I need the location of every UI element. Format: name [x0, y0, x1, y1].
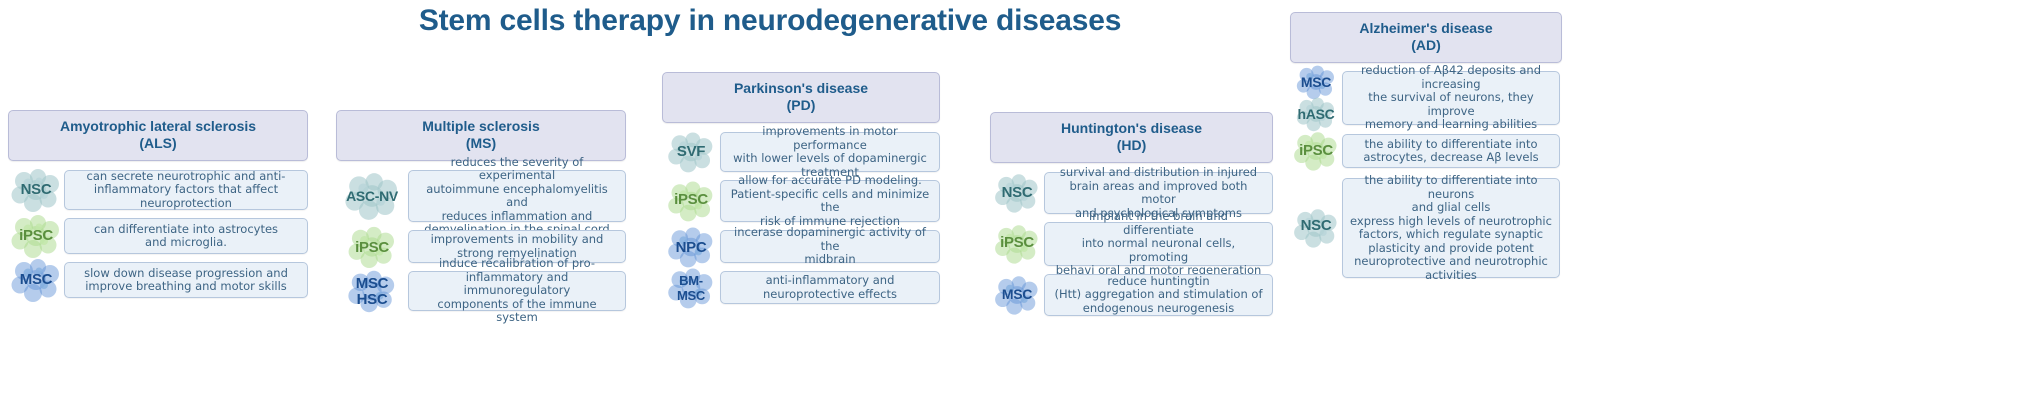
- column-ad: Alzheimer's disease (AD): [1290, 12, 2020, 286]
- stem-cell-cluster-icon: [8, 257, 64, 303]
- stem-cell-cluster-icon: [341, 171, 403, 221]
- info-box-hd-0: survival and distribution in injured bra…: [1044, 172, 1273, 214]
- row-ms-0: ASC-NV reduces the severity of experimen…: [336, 170, 626, 222]
- disease-header-als: Amyotrophic lateral sclerosis (ALS): [8, 110, 308, 161]
- column-hd: Huntington's disease (HD) NSC: [990, 112, 1273, 324]
- info-box-pd-0: improvements in motor performance with l…: [720, 132, 940, 172]
- disease-abbr-ad: (AD): [1411, 37, 1441, 53]
- info-box-pd-3: anti-inflammatory and neuroprotective ef…: [720, 271, 940, 304]
- cell-icon-nsc: NSC: [990, 170, 1044, 216]
- disease-name-ad: Alzheimer's disease: [1359, 20, 1492, 36]
- row-pd-2: NPC incerase dopaminergic activity of th…: [662, 230, 940, 263]
- rows-als: NSC can secrete neurotrophic and anti- i…: [8, 170, 308, 298]
- disease-abbr-pd: (PD): [787, 97, 816, 113]
- cell-icon-group-msc-hasc: MSC hASC: [1290, 66, 1342, 130]
- stem-cell-cluster-icon: [1291, 130, 1341, 172]
- disease-name-hd: Huntington's disease: [1061, 120, 1202, 136]
- rows-ms: ASC-NV reduces the severity of experimen…: [336, 170, 626, 311]
- info-box-pd-1: allow for accurate PD modeling. Patient-…: [720, 180, 940, 222]
- disease-abbr-ms: (MS): [466, 135, 496, 151]
- cell-icon-ipsc: iPSC: [1290, 129, 1342, 173]
- disease-header-pd: Parkinson's disease (PD): [662, 72, 940, 123]
- info-box-hd-1: implant in the brain and differentiate i…: [1044, 222, 1273, 266]
- row-als-0: NSC can secrete neurotrophic and anti- i…: [8, 170, 308, 210]
- stem-cell-cluster-icon: [665, 266, 717, 310]
- disease-header-hd: Huntington's disease (HD): [990, 112, 1273, 163]
- row-pd-0: SVF improvements in motor performance wi…: [662, 132, 940, 172]
- cell-icon-svf: SVF: [662, 129, 720, 175]
- stem-cell-cluster-icon: [1292, 96, 1340, 132]
- disease-abbr-hd: (HD): [1117, 137, 1147, 153]
- info-box-ad-1: the ability to differentiate into astroc…: [1342, 134, 1560, 168]
- rows-hd: NSC survival and distribution in injured…: [990, 172, 1273, 316]
- cell-icon-hasc: hASC: [1290, 98, 1342, 130]
- disease-name-pd: Parkinson's disease: [734, 80, 868, 96]
- info-box-pd-2: incerase dopaminergic activity of the mi…: [720, 230, 940, 263]
- cell-icon-msc: MSC: [1291, 66, 1341, 98]
- info-box-als-2: slow down disease progression and improv…: [64, 262, 308, 298]
- disease-header-ms: Multiple sclerosis (MS): [336, 110, 626, 161]
- cell-icon-bm-msc: BM- MSC: [662, 265, 720, 311]
- cell-icon-msc: MSC: [990, 272, 1044, 318]
- cell-icon-msc: MSC: [8, 257, 64, 303]
- info-box-ms-2: induce recalibration of pro- inflammator…: [408, 271, 626, 311]
- stem-cell-cluster-icon: [992, 171, 1042, 215]
- row-hd-2: MSC reduce huntingtin (Htt) aggregation …: [990, 274, 1273, 316]
- cell-icon-ipsc: iPSC: [8, 213, 64, 259]
- row-als-1: iPSC can differentiate into astrocytes a…: [8, 218, 308, 254]
- row-pd-1: iPSC allow for accurate PD modeling. Pat…: [662, 180, 940, 222]
- cell-icon-nsc: NSC: [1290, 203, 1342, 253]
- row-ad-1: iPSC the ability to differentiate into a…: [1290, 134, 1560, 168]
- stem-cell-cluster-icon: [1292, 64, 1340, 100]
- row-hd-0: NSC survival and distribution in injured…: [990, 172, 1273, 214]
- stem-cell-cluster-icon: [345, 225, 399, 269]
- info-box-ms-0: reduces the severity of experimental aut…: [408, 170, 626, 222]
- cell-icon-asc-nv: ASC-NV: [336, 170, 408, 222]
- stem-cell-cluster-icon: [8, 213, 64, 259]
- stem-cell-cluster-icon: [345, 268, 399, 314]
- cell-icon-nsc: NSC: [8, 167, 64, 213]
- disease-header-ad: Alzheimer's disease (AD): [1290, 12, 1562, 63]
- rows-pd: SVF improvements in motor performance wi…: [662, 132, 940, 304]
- column-ms: Multiple sclerosis (MS) ASC-NV: [336, 110, 626, 319]
- rows-ad: MSC hASC: [1290, 72, 1560, 278]
- cell-icon-ipsc: iPSC: [336, 225, 408, 269]
- disease-abbr-als: (ALS): [139, 135, 176, 151]
- info-box-als-0: can secrete neurotrophic and anti- infla…: [64, 170, 308, 210]
- row-als-2: MSC slow down disease progression and im…: [8, 262, 308, 298]
- column-pd: Parkinson's disease (PD) SVF i: [662, 72, 940, 312]
- stem-cell-cluster-icon: [665, 225, 717, 269]
- disease-name-ms: Multiple sclerosis: [422, 118, 539, 134]
- stem-cell-cluster-icon: [992, 222, 1042, 266]
- stem-cell-cluster-icon: [1291, 206, 1341, 250]
- column-als: Amyotrophic lateral sclerosis (ALS): [8, 110, 308, 306]
- row-ad-2: NSC the ability to differentiate into ne…: [1290, 178, 1560, 278]
- stem-cell-cluster-icon: [8, 167, 64, 213]
- row-ms-2: MSC HSC induce recalibration of pro- inf…: [336, 271, 626, 311]
- row-pd-3: BM- MSC anti-inflammatory and neuroprote…: [662, 271, 940, 304]
- stem-cell-cluster-icon: [992, 273, 1042, 317]
- row-ad-0: MSC hASC: [1290, 72, 1560, 124]
- disease-name-als: Amyotrophic lateral sclerosis: [60, 118, 256, 134]
- stem-cell-cluster-icon: [665, 130, 717, 174]
- cell-icon-npc: NPC: [662, 225, 720, 269]
- info-box-als-1: can differentiate into astrocytes and mi…: [64, 218, 308, 254]
- info-box-hd-2: reduce huntingtin (Htt) aggregation and …: [1044, 274, 1273, 316]
- info-box-ad-2: the ability to differentiate into neuron…: [1342, 178, 1560, 278]
- info-box-ad-0: reduction of Aβ42 deposits and increasin…: [1342, 71, 1560, 125]
- stem-cell-cluster-icon: [665, 179, 717, 223]
- row-hd-1: iPSC implant in the brain and differenti…: [990, 222, 1273, 266]
- cell-icon-ipsc: iPSC: [662, 177, 720, 225]
- cell-icon-msc-hsc: MSC HSC: [336, 267, 408, 315]
- cell-icon-ipsc: iPSC: [990, 220, 1044, 268]
